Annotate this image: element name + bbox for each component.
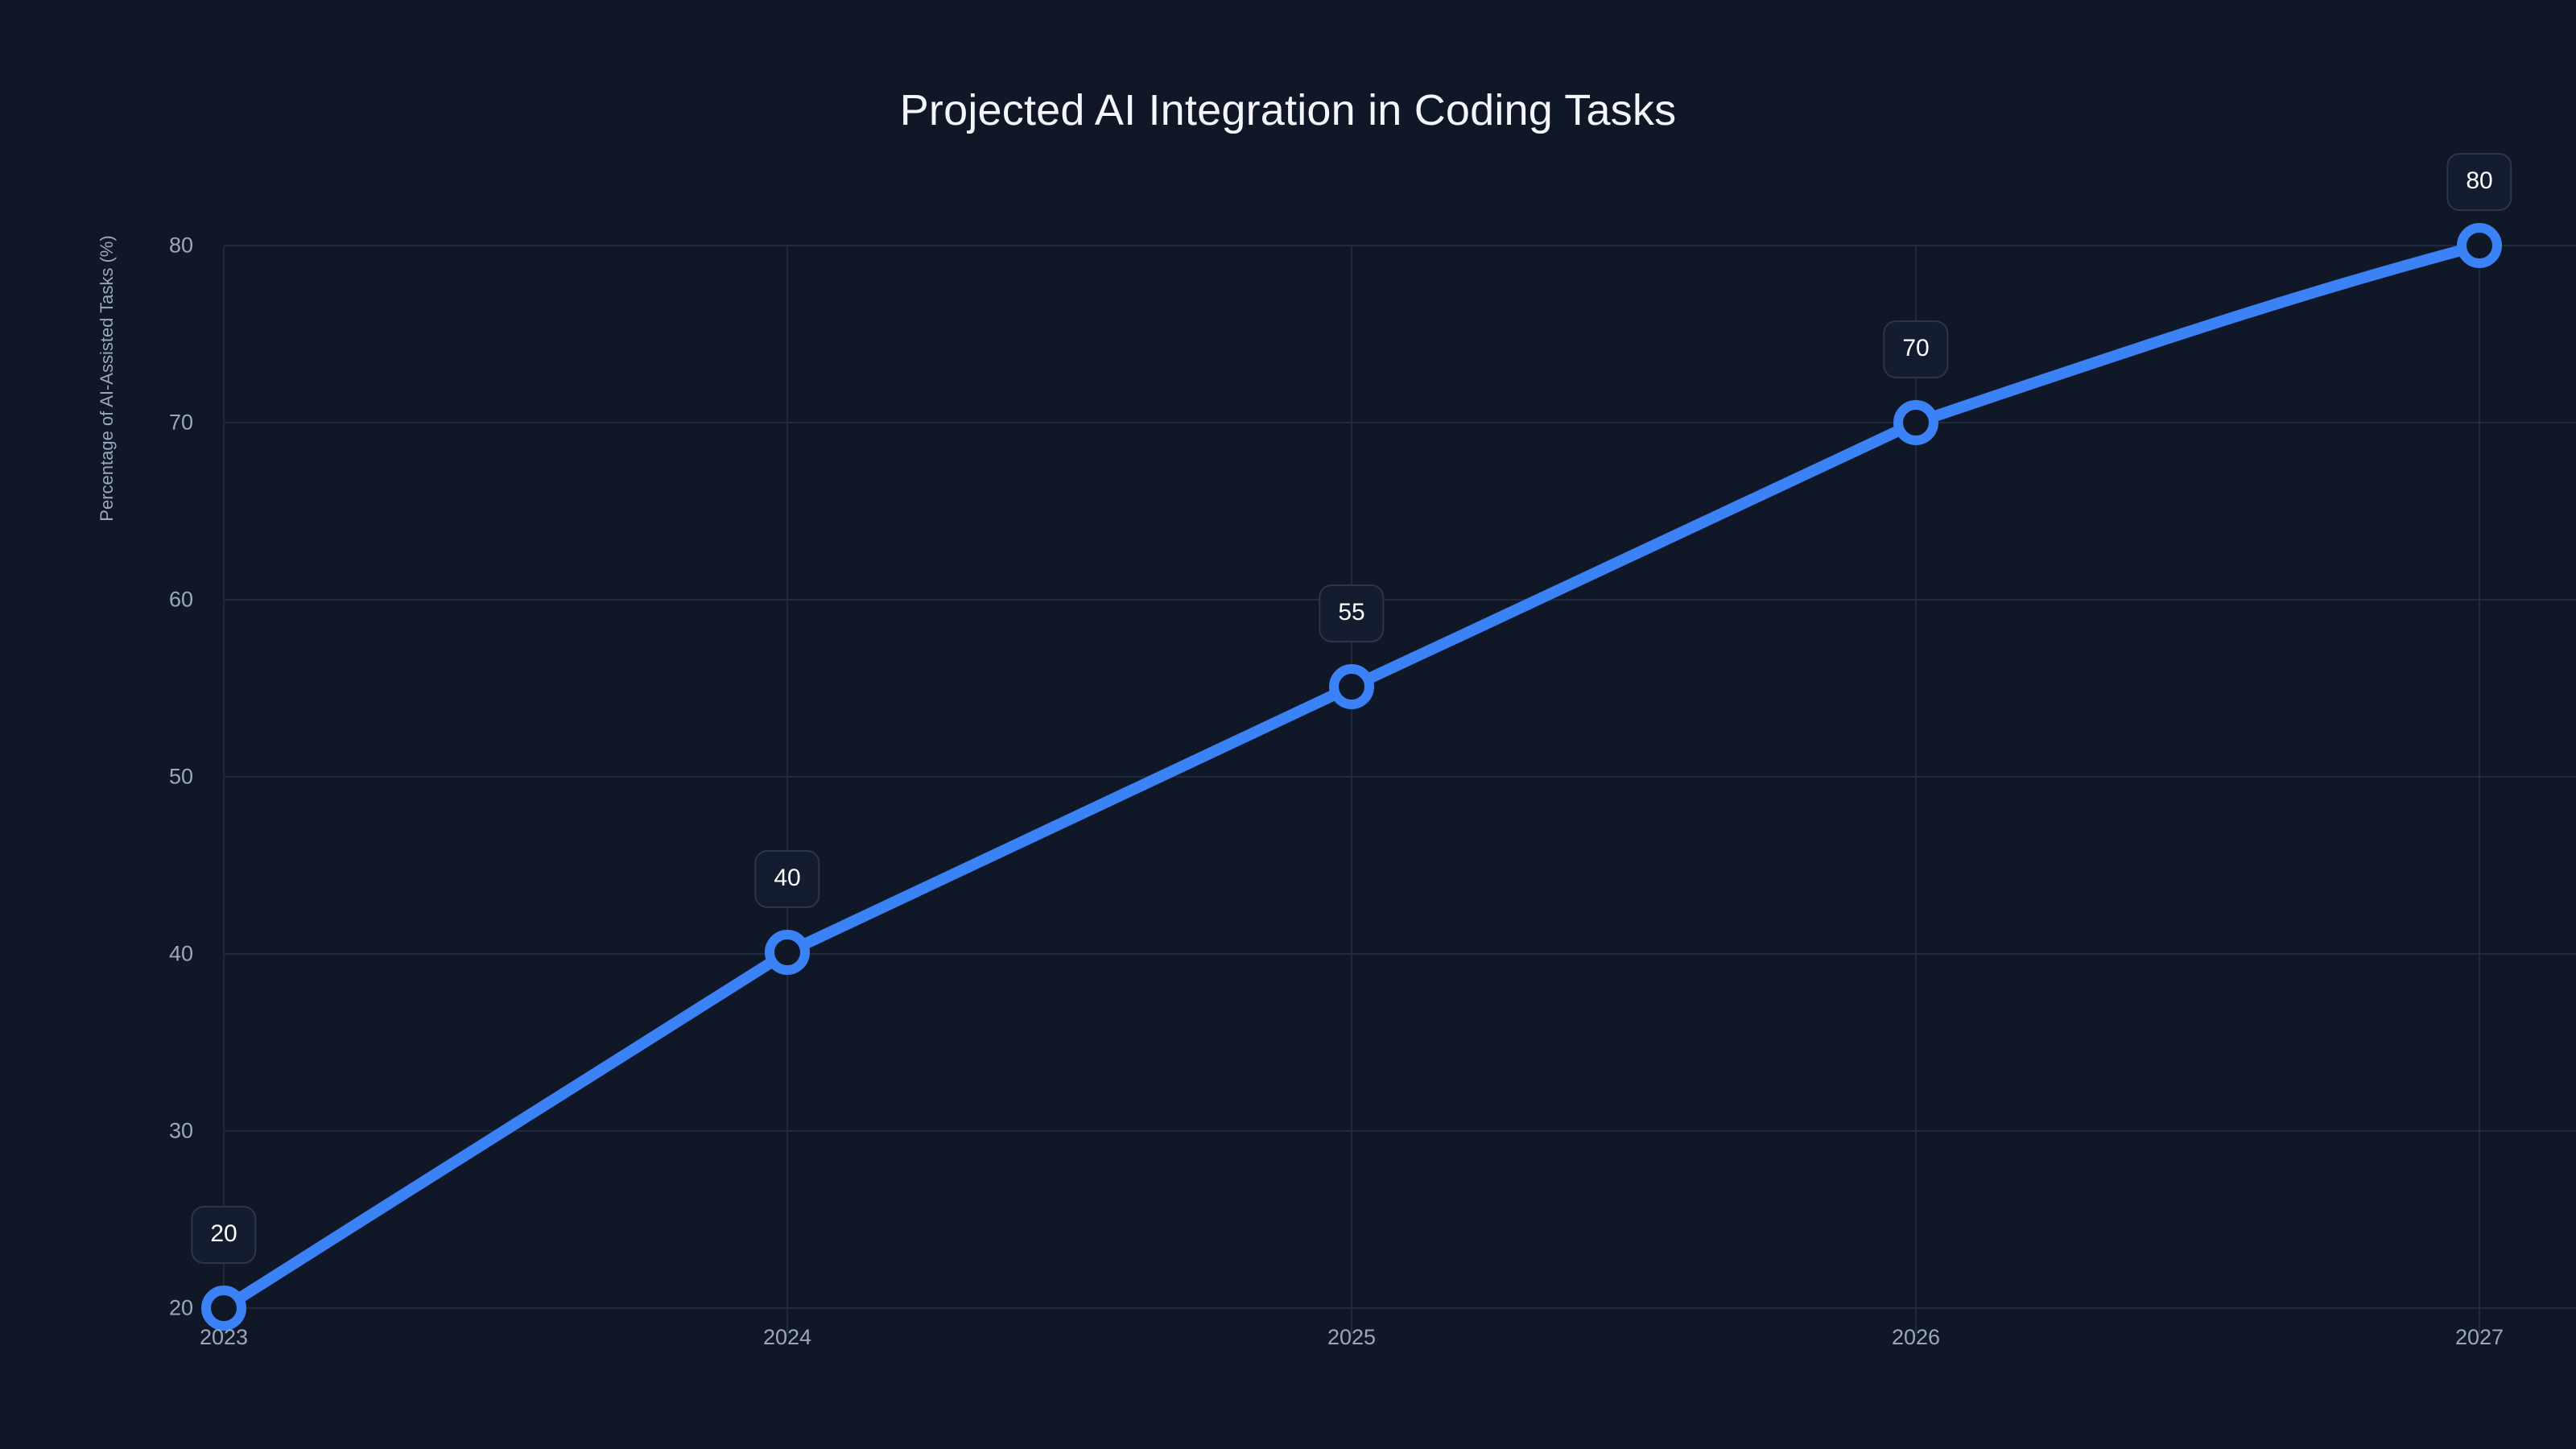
- data-label-badge[interactable]: 55: [1319, 584, 1384, 642]
- data-label-badge[interactable]: 80: [2446, 153, 2512, 211]
- x-tick-label: 2023: [200, 1327, 248, 1348]
- data-point-marker[interactable]: [1898, 405, 1934, 440]
- x-tick-label: 2024: [763, 1327, 811, 1348]
- x-tick-label: 2026: [1892, 1327, 1940, 1348]
- data-point-marker[interactable]: [1334, 669, 1369, 704]
- data-point-marker[interactable]: [770, 935, 805, 970]
- data-point-marker[interactable]: [2462, 228, 2497, 263]
- grid-lines-horizontal: [224, 246, 2576, 1308]
- x-tick-label: 2025: [1327, 1327, 1376, 1348]
- y-tick-label: 60: [145, 589, 193, 611]
- data-label-badge[interactable]: 20: [191, 1206, 256, 1264]
- grid-lines-vertical: [224, 246, 2479, 1336]
- y-tick-label: 80: [145, 235, 193, 257]
- data-label-badge[interactable]: 70: [1883, 320, 1948, 378]
- y-tick-label: 70: [145, 412, 193, 434]
- y-tick-label: 30: [145, 1121, 193, 1142]
- data-point-marker[interactable]: [206, 1290, 242, 1326]
- chart-canvas: [0, 0, 2576, 1449]
- y-tick-label: 20: [145, 1298, 193, 1319]
- y-tick-label: 50: [145, 766, 193, 788]
- line-chart: Projected AI Integration in Coding Tasks…: [0, 0, 2576, 1449]
- x-tick-label: 2027: [2455, 1327, 2504, 1348]
- data-label-badge[interactable]: 40: [754, 850, 819, 908]
- y-tick-label: 40: [145, 943, 193, 965]
